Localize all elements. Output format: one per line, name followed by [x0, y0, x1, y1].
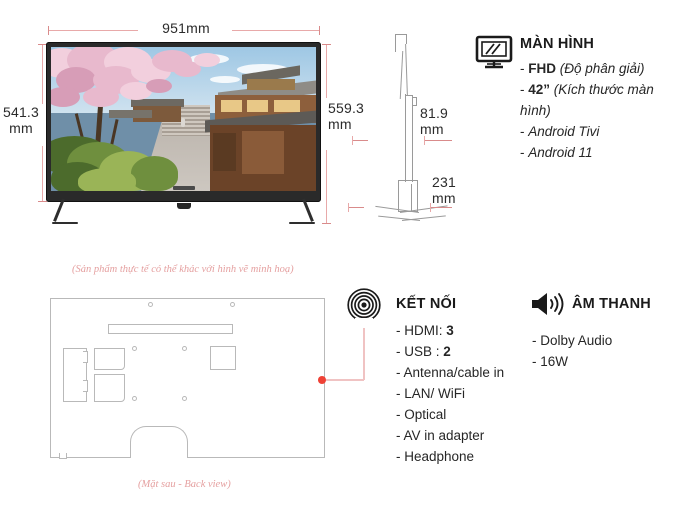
connectivity-spec-item-2: - Antenna/cable in	[396, 362, 536, 383]
width-label: 951mm	[140, 20, 232, 36]
height-right-tick-top	[322, 44, 331, 45]
screen-spec-bold-1: 42”	[528, 82, 550, 97]
depth-tick-left-v	[352, 136, 353, 145]
stand-depth-tick-right	[430, 207, 452, 208]
height-left-tick-bottom	[38, 201, 47, 202]
height-right-unit: mm	[328, 116, 376, 132]
screen-spec-dash-0: -	[520, 61, 528, 76]
connectivity-label-1: - USB :	[396, 344, 443, 359]
height-right-rule-bottom	[326, 150, 327, 224]
connectivity-spec-title: KẾT NỐI	[396, 296, 456, 312]
screen-spec-list: - FHD (Độ phân giải) - 42” (Kích thước m…	[520, 58, 696, 163]
height-left-value: 541.3	[3, 104, 39, 120]
wireless-signal-icon	[344, 288, 386, 328]
connectivity-spec-list: - HDMI: 3 - USB : 2 - Antenna/cable in -…	[396, 320, 536, 467]
audio-spec-item-0: - Dolby Audio	[532, 330, 672, 351]
connectivity-spec-item-6: - Headphone	[396, 446, 536, 467]
connectivity-label-4: - Optical	[396, 407, 446, 422]
audio-label-0: - Dolby Audio	[532, 333, 612, 348]
speaker-icon	[528, 290, 570, 320]
stand-depth-value: 231	[432, 174, 456, 190]
stand-depth-tick-right-v	[430, 203, 431, 212]
audio-spec-title: ÂM THANH	[572, 296, 651, 312]
screen-photo-kyoto-sakura	[51, 47, 316, 191]
depth-unit: mm	[420, 121, 476, 137]
height-left-label: 541.3 mm	[0, 104, 42, 136]
connectivity-label-3: - LAN/ WiFi	[396, 386, 465, 401]
connectivity-label-2: - Antenna/cable in	[396, 365, 504, 380]
screen-spec-dash-3: -	[520, 124, 528, 139]
screen-spec-item-4: - Android 11	[520, 142, 696, 163]
height-right-value: 559.3	[328, 100, 364, 116]
connectivity-label-6: - Headphone	[396, 449, 474, 464]
height-left-unit: mm	[0, 120, 42, 136]
screen-spec-dash-4: -	[520, 145, 528, 160]
monitor-icon	[474, 34, 518, 74]
connectivity-spec-item-4: - Optical	[396, 404, 536, 425]
stand-depth-tick-left-v	[348, 203, 349, 212]
tv-leg-left	[53, 198, 65, 221]
screen-spec-title: MÀN HÌNH	[520, 36, 594, 52]
height-right-tick-bottom	[322, 223, 331, 224]
width-rule-left	[48, 30, 138, 31]
height-right-rule-top	[326, 44, 327, 98]
audio-spec-item-1: - 16W	[532, 351, 672, 372]
screen-spec-bold-0: FHD	[528, 61, 556, 76]
width-rule-right	[232, 30, 320, 31]
screen-spec-rest-2: hình)	[520, 103, 551, 118]
connectivity-spec-item-5: - AV in adapter	[396, 425, 536, 446]
connectivity-callout-dot	[318, 376, 326, 384]
tv-back-view	[50, 298, 325, 461]
connectivity-label-5: - AV in adapter	[396, 428, 484, 443]
tv-ir-sensor	[177, 203, 191, 209]
connectivity-spec-item-1: - USB : 2	[396, 341, 536, 362]
depth-value: 81.9	[420, 105, 448, 121]
depth-tick-right	[424, 140, 452, 141]
spec-sheet-canvas: 951mm 541.3 mm 559.3 mm	[0, 0, 696, 522]
tv-leg-right	[302, 198, 314, 221]
connectivity-value-1: 2	[443, 344, 451, 359]
screen-spec-rest-3: Android Tivi	[528, 124, 599, 139]
stand-depth-tick-left	[348, 207, 364, 208]
screen-spec-item-1: - 42” (Kích thước màn	[520, 79, 696, 100]
screen-spec-item-0: - FHD (Độ phân giải)	[520, 58, 696, 79]
tv-foot-right	[289, 222, 315, 224]
screen-spec-rest-0: (Độ phân giải)	[556, 61, 645, 76]
width-tick-left	[48, 26, 49, 35]
width-tick-right	[319, 26, 320, 35]
screen-spec-rest-1: (Kích thước màn	[550, 82, 654, 97]
connectivity-spec-item-0: - HDMI: 3	[396, 320, 536, 341]
screen-spec-rest-4: Android 11	[528, 145, 592, 160]
tv-brand-logo	[173, 186, 195, 190]
back-view-caption: (Mặt sau - Back view)	[138, 479, 231, 490]
height-left-rule-top	[42, 44, 43, 104]
depth-tick-right-v	[424, 136, 425, 145]
connectivity-spec-item-3: - LAN/ WiFi	[396, 383, 536, 404]
disclaimer-caption: (Sản phẩm thực tế có thể khác với hình v…	[72, 264, 294, 275]
connectivity-label-0: - HDMI:	[396, 323, 446, 338]
screen-spec-item-2: hình)	[520, 100, 696, 121]
screen-spec-dash-1: -	[520, 82, 528, 97]
audio-spec-list: - Dolby Audio - 16W	[532, 330, 672, 372]
depth-tick-left	[352, 140, 368, 141]
screen-spec-item-3: - Android Tivi	[520, 121, 696, 142]
tv-front-view	[46, 42, 321, 202]
connectivity-callout-line-h	[326, 379, 364, 381]
depth-label: 81.9 mm	[420, 105, 476, 137]
height-left-rule-bottom	[42, 146, 43, 202]
height-right-label: 559.3 mm	[328, 100, 376, 132]
tv-foot-left	[52, 222, 78, 224]
connectivity-value-0: 3	[446, 323, 454, 338]
audio-label-1: - 16W	[532, 354, 568, 369]
tv-screen-image	[51, 47, 316, 191]
stand-depth-unit: mm	[432, 190, 488, 206]
stand-depth-label: 231 mm	[432, 174, 488, 206]
